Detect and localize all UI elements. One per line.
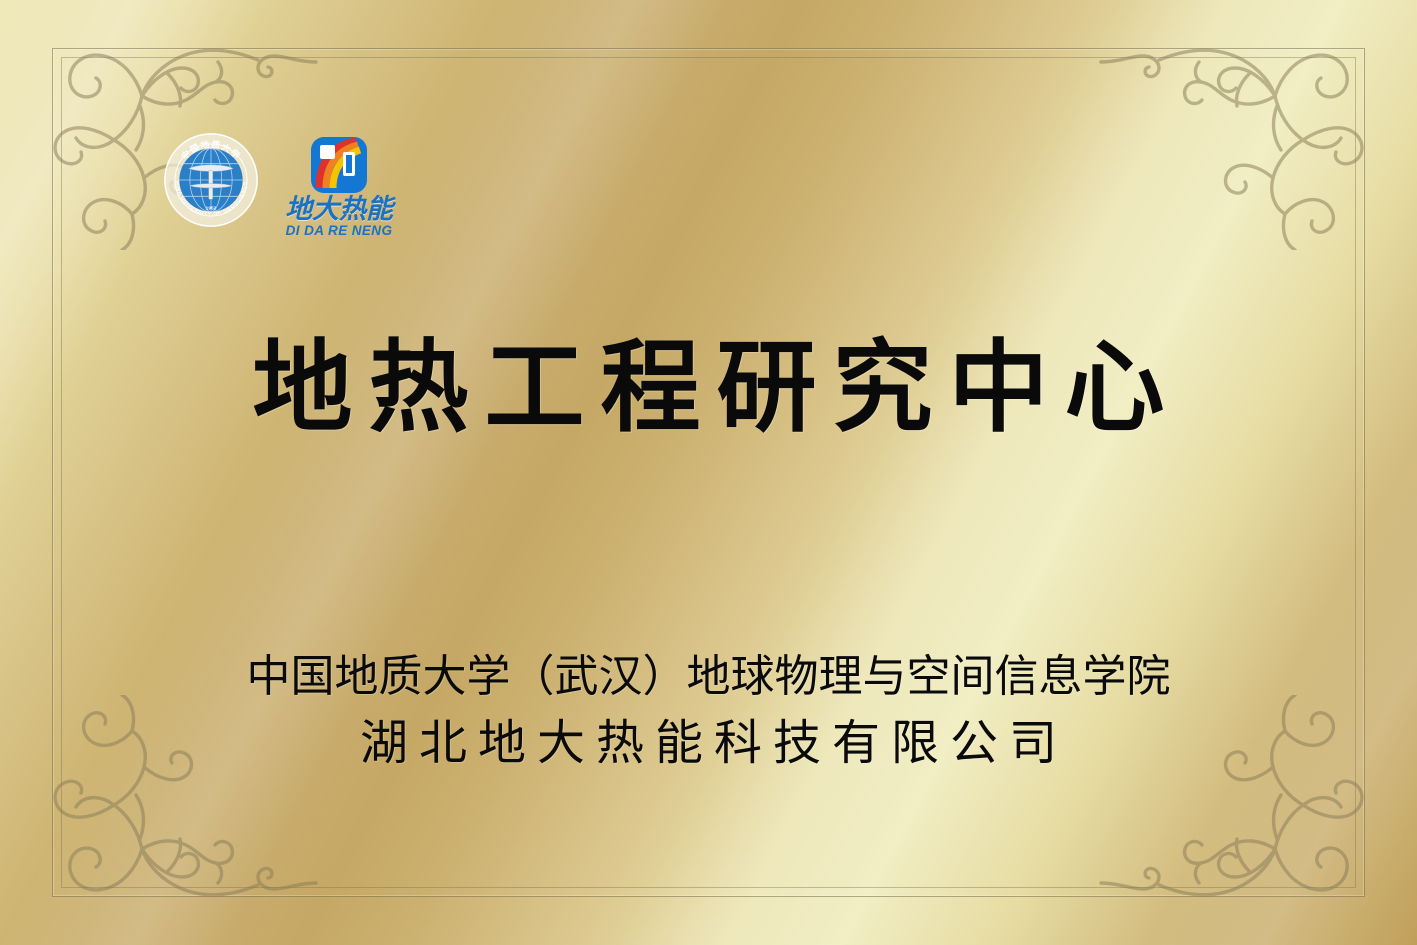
plaque-title: 地热工程研究中心 xyxy=(0,332,1417,444)
company-brand: 地大热能 DI DA RE NENG xyxy=(285,136,393,239)
university-seal: 中国地质大学 CHINA UNIVERSITY OF GEOSCIENCES 1… xyxy=(163,132,259,228)
company-name-cn: 地大热能 xyxy=(285,196,393,223)
company-name-en: DI DA RE NENG xyxy=(286,224,393,239)
logo-row: 中国地质大学 CHINA UNIVERSITY OF GEOSCIENCES 1… xyxy=(163,132,393,239)
svg-text:1952: 1952 xyxy=(206,205,217,211)
didareneng-mark-icon xyxy=(310,136,368,194)
ornament-corner-top-right xyxy=(1099,10,1399,250)
organization-line-1: 中国地质大学（武汉）地球物理与空间信息学院 xyxy=(0,640,1417,704)
organization-line-2: 湖北地大热能科技有限公司 xyxy=(0,703,1417,773)
award-plaque: 中国地质大学 CHINA UNIVERSITY OF GEOSCIENCES 1… xyxy=(0,0,1417,945)
